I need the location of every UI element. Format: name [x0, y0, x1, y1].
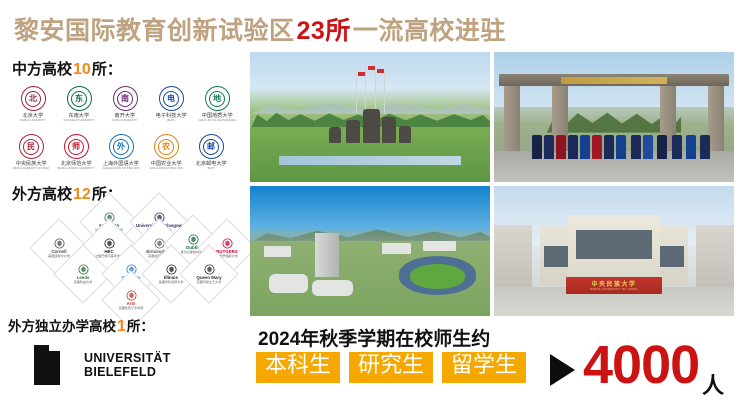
university-crest-icon: [204, 264, 215, 275]
university-name: 北京师范大学: [60, 161, 91, 167]
chinese-university-logo: 南南开大学NANKAI UNIVERSITY: [106, 86, 144, 122]
photo1-flagpole: [375, 68, 376, 115]
university-name-cn: 美国伊利诺伊大学: [159, 281, 184, 284]
student-category-badge: 研究生: [349, 352, 433, 383]
photo2-graduate: [568, 135, 578, 158]
university-name-en: BEIJING NORMAL UNIVERSITY: [58, 167, 95, 170]
photo4-name-sign: 中央民族大学 MINZU UNIVERSITY OF CHINA: [566, 277, 662, 294]
chinese-university-logo: 电电子科技大学UESTC: [152, 86, 190, 122]
photo1-rock: [399, 126, 411, 143]
university-seal-icon: 电: [159, 86, 184, 111]
photo2-graduate: [544, 135, 554, 158]
photo1-flagpole: [356, 70, 357, 114]
university-crest-icon: [126, 290, 137, 301]
photo2-graduate: [532, 135, 542, 158]
photo2-graduate: [556, 135, 566, 158]
section-heading-independent: 外方独立办学高校 1 所：: [8, 315, 154, 336]
universities-panel: 中方高校 10 所： 北北京大学PEKING UNIVERSITY东东南大学SO…: [0, 50, 245, 405]
university-crest-icon: [166, 264, 177, 275]
photo2-graduate: [592, 135, 602, 158]
photo2-gate-column: [708, 86, 725, 154]
photo4-side-building: [696, 225, 734, 287]
university-seal-icon: 南: [113, 86, 138, 111]
university-seal-icon: 地: [205, 86, 230, 111]
photo2-graduate: [580, 135, 590, 158]
photo2-graduate: [700, 135, 710, 158]
bielefeld-mark-icon: [34, 345, 74, 385]
photo1-rock: [329, 127, 341, 143]
stats-headline: 2024年秋季学期在校师生约: [258, 324, 490, 351]
chinese-university-logo: 农中国农业大学CHINA AGRICULTURAL UNIV: [147, 134, 185, 170]
photo4-window-wall: [544, 246, 568, 267]
page-title: 黎安国际教育创新试验区 23所 一流高校进驻: [14, 14, 726, 48]
university-name-en: SHANGHAI INTL STUDIES UNIV: [102, 167, 139, 170]
chinese-university-logo: 地中国地质大学CHINA UNIV OF GEOSCIENCES: [198, 86, 236, 122]
university-crest-icon: [222, 238, 233, 249]
university-name-en: UESTC: [167, 119, 176, 122]
university-name: 电子科技大学: [155, 113, 186, 119]
chinese-label-after: 所：: [92, 58, 122, 79]
photo3-tower-building: [315, 233, 339, 277]
photo3-building: [312, 280, 353, 297]
slide-root: 黎安国际教育创新试验区 23所 一流高校进驻 中方高校 10 所： 北北京大学P…: [0, 0, 740, 405]
photo4-window-wall: [576, 230, 653, 259]
title-lead: 黎安国际教育创新试验区: [14, 19, 295, 44]
photo1-flagpole: [384, 72, 385, 115]
photo4-sign-en: MINZU UNIVERSITY OF CHINA: [590, 288, 638, 291]
title-highlight: 23所: [297, 19, 351, 44]
enrollment-unit: 人: [702, 368, 724, 400]
chinese-university-logo: 民中央民族大学MINZU UNIVERSITY OF CHINA: [12, 134, 50, 170]
photo-campus-aerial: [250, 186, 490, 316]
university-crest-icon: [104, 238, 115, 249]
chinese-university-logo: 师北京师范大学BEIJING NORMAL UNIVERSITY: [57, 134, 95, 170]
university-name-en: SOUTHEAST UNIVERSITY: [63, 119, 94, 122]
photo2-gate-column: [504, 86, 521, 154]
foreign-logo-grid: ALBERTA加拿大阿尔伯塔大学University of Glasgow英国格…: [10, 205, 242, 313]
university-name-en: BUPT: [208, 167, 215, 170]
university-seal-icon: 邮: [199, 134, 224, 159]
bielefeld-line2: BIELEFELD: [84, 365, 171, 379]
title-tail: 一流高校进驻: [353, 19, 506, 44]
chinese-count: 10: [72, 61, 92, 79]
enrollment-stats: 2024年秋季学期在校师生约 本科生研究生留学生 4000 人: [250, 322, 734, 400]
photo-minzu-building: 中央民族大学 MINZU UNIVERSITY OF CHINA: [494, 186, 734, 316]
play-triangle-icon: [550, 354, 575, 386]
university-name-cn: 英国玛丽女王大学: [197, 281, 222, 284]
photo1-flag: [377, 69, 384, 73]
university-seal-icon: 师: [64, 134, 89, 159]
university-name-en: CHINA AGRICULTURAL UNIV: [149, 167, 183, 170]
university-name: 中国地质大学: [201, 113, 232, 119]
photo4-window-wall: [660, 246, 684, 267]
photo2-graduate: [616, 135, 626, 158]
student-category-badge: 本科生: [256, 352, 340, 383]
chinese-label-before: 中方高校: [12, 58, 72, 79]
university-name: 北京大学: [23, 113, 44, 119]
photo1-rock: [382, 117, 396, 143]
university-name: 北京邮电大学: [195, 161, 226, 167]
photo1-flag: [358, 72, 365, 76]
photo2-graduate: [672, 135, 682, 158]
university-crest-icon: [54, 238, 65, 249]
photo-grid: 中央民族大学 MINZU UNIVERSITY OF CHINA: [250, 52, 734, 316]
photo4-side-building: [494, 225, 532, 287]
university-name: 上海外国语大学: [103, 161, 139, 167]
photo2-graduate: [631, 135, 641, 158]
chinese-university-logo: 北北京大学PEKING UNIVERSITY: [14, 86, 52, 122]
photo-park-monument: [250, 52, 490, 182]
university-seal-icon: 农: [154, 134, 179, 159]
chinese-logo-row-2: 民中央民族大学MINZU UNIVERSITY OF CHINA师北京师范大学B…: [12, 134, 230, 170]
university-seal-icon: 外: [109, 134, 134, 159]
university-name-cn: 英国伦敦艺术学院: [119, 307, 144, 310]
independent-label-after: 所：: [127, 315, 154, 335]
photo2-graduate: [686, 135, 696, 158]
photo2-graduate: [643, 135, 653, 158]
foreign-count: 12: [72, 186, 92, 204]
chinese-university-logo: 东东南大学SOUTHEAST UNIVERSITY: [60, 86, 98, 122]
section-heading-chinese: 中方高校 10 所：: [12, 58, 122, 79]
photo2-graduate: [604, 135, 614, 158]
photo3-building: [264, 246, 290, 258]
foreign-label-before: 外方高校: [12, 183, 72, 204]
enrollment-number: 4000: [583, 338, 699, 392]
chinese-logo-row-1: 北北京大学PEKING UNIVERSITY东东南大学SOUTHEAST UNI…: [14, 86, 236, 122]
university-name: 东南大学: [69, 113, 90, 119]
student-category-badge: 留学生: [442, 352, 526, 383]
university-name: 中国农业大学: [150, 161, 181, 167]
university-name-en: MINZU UNIVERSITY OF CHINA: [13, 167, 49, 170]
photo1-ground-sign: [279, 156, 461, 165]
photo3-building: [269, 274, 307, 292]
independent-count: 1: [116, 318, 127, 336]
independent-label-before: 外方独立办学高校: [8, 315, 116, 335]
photo3-sky: [250, 186, 490, 229]
photo1-flag: [368, 66, 375, 70]
photo1-rock: [346, 120, 360, 143]
chinese-university-logo: 外上海外国语大学SHANGHAI INTL STUDIES UNIV: [102, 134, 140, 170]
photo1-rock: [363, 109, 380, 143]
bielefeld-line1: UNIVERSITÄT: [84, 351, 171, 365]
university-seal-icon: 民: [19, 134, 44, 159]
stats-badge-group: 本科生研究生留学生: [256, 352, 526, 383]
university-name: 南开大学: [115, 113, 136, 119]
photo3-stadium-pitch: [410, 264, 465, 289]
university-crest-icon: [188, 234, 199, 245]
university-name-en: PEKING UNIVERSITY: [20, 119, 45, 122]
university-name-cn: 英国利兹大学: [74, 281, 93, 284]
bielefeld-wordmark: UNIVERSITÄT BIELEFELD: [84, 351, 171, 379]
photo2-gate-inscription: [561, 77, 667, 84]
university-name: 中央民族大学: [15, 161, 46, 167]
university-name-en: NANKAI UNIVERSITY: [112, 119, 137, 122]
university-seal-icon: 东: [67, 86, 92, 111]
photo2-graduate: [657, 135, 667, 158]
chinese-university-logo: 邮北京邮电大学BUPT: [192, 134, 230, 170]
photo3-building: [423, 241, 457, 251]
photo3-building: [382, 243, 411, 253]
university-crest-icon: [78, 264, 89, 275]
university-name-en: CHINA UNIV OF GEOSCIENCES: [198, 119, 236, 122]
bielefeld-logo: UNIVERSITÄT BIELEFELD: [34, 345, 171, 385]
university-seal-icon: 北: [21, 86, 46, 111]
photo1-flagpole: [365, 65, 366, 114]
photo-university-gate: [494, 52, 734, 182]
